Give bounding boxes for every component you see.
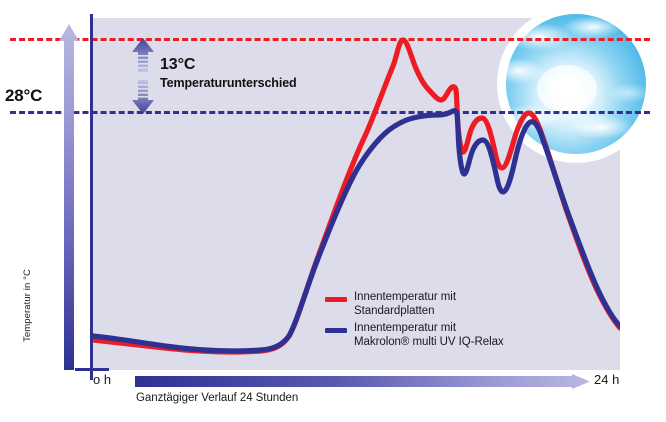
chart-figure: Temperatur in °C 28°C: [0, 0, 666, 422]
legend: Innentemperatur mit Standardplatten Inne…: [325, 291, 504, 353]
time-gradient-arrow: [135, 374, 590, 389]
y-axis-label: Temperatur in °C: [22, 258, 33, 353]
legend-item-makrolon[interactable]: Innentemperatur mit Makrolon® multi UV I…: [325, 322, 504, 349]
legend-label-makrolon: Innentemperatur mit Makrolon® multi UV I…: [354, 322, 504, 349]
x-axis-caption: Ganztägiger Verlauf 24 Stunden: [136, 392, 298, 404]
threshold-label-28c: 28°C: [5, 86, 42, 106]
x-axis-start-label: o h: [93, 372, 111, 387]
legend-swatch-red-icon: [325, 297, 347, 302]
temperature-gradient-arrow: [58, 24, 80, 370]
x-axis-end-label: 24 h: [594, 372, 619, 387]
legend-label-standard: Innentemperatur mit Standardplatten: [354, 291, 456, 318]
legend-item-standard[interactable]: Innentemperatur mit Standardplatten: [325, 291, 504, 318]
legend-swatch-blue-icon: [325, 328, 347, 333]
